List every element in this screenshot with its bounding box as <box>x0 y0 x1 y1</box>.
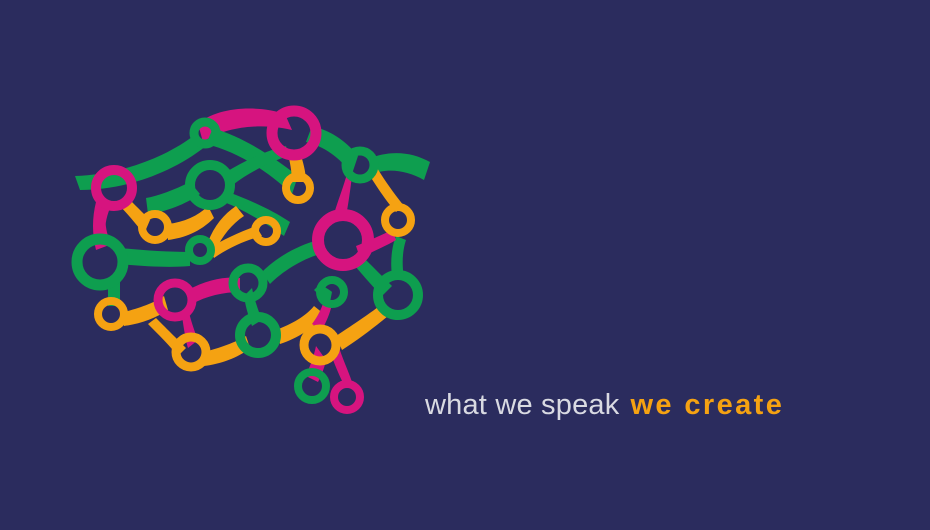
node-n12 <box>189 239 211 261</box>
node-n22 <box>334 384 360 410</box>
tagline-accent-text: we create <box>630 389 784 422</box>
node-n18 <box>176 337 206 367</box>
tagline-light-text: what we speak <box>425 389 619 422</box>
node-n8 <box>255 220 277 242</box>
link-n13-n10 <box>262 240 320 284</box>
node-n10 <box>318 215 368 265</box>
node-n5 <box>286 176 310 200</box>
tagline: what we speak we create <box>425 389 784 429</box>
node-n15 <box>98 301 124 327</box>
link-n11-n12 <box>118 248 190 267</box>
node-n14 <box>378 275 418 315</box>
node-n7 <box>142 214 168 240</box>
logo-links <box>75 109 430 388</box>
node-n9 <box>385 207 411 233</box>
link-n7-n4 <box>168 206 214 240</box>
brain-network-logo <box>55 95 445 435</box>
node-n13 <box>233 268 263 298</box>
node-n4 <box>190 165 230 205</box>
logo-canvas: what we speak we create <box>0 0 930 530</box>
node-n6 <box>346 151 374 179</box>
